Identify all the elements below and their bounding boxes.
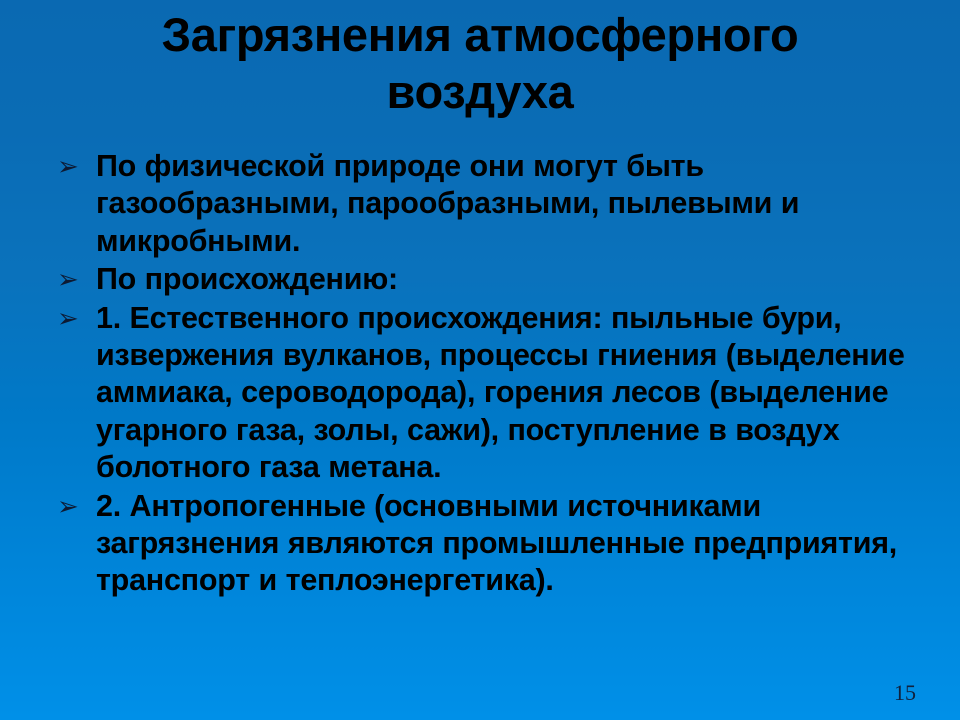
title-line-2: воздуха xyxy=(30,63,930,120)
arrow-bullet-icon: ➢ xyxy=(57,152,83,182)
arrow-bullet-icon: ➢ xyxy=(57,304,83,334)
title-line-1: Загрязнения атмосферного xyxy=(30,6,930,63)
presentation-slide: Загрязнения атмосферного воздуха ➢ По фи… xyxy=(0,0,960,720)
slide-number: 15 xyxy=(894,680,916,706)
slide-title: Загрязнения атмосферного воздуха xyxy=(30,6,930,120)
bullet-item-4: ➢ 2. Антропогенные (основными источникам… xyxy=(52,488,924,600)
arrow-bullet-icon: ➢ xyxy=(57,265,83,295)
bullet-item-3: ➢ 1. Естественного происхождения: пыльны… xyxy=(52,300,924,487)
bullet-item-4-text: 2. Антропогенные (основными источниками … xyxy=(96,488,924,600)
bullet-item-1: ➢ По физической природе они могут быть г… xyxy=(52,148,924,260)
arrow-bullet-icon: ➢ xyxy=(57,492,83,522)
slide-body-bullet-list: ➢ По физической природе они могут быть г… xyxy=(52,148,924,601)
bullet-item-1-text: По физической природе они могут быть газ… xyxy=(96,148,924,260)
bullet-item-3-text: 1. Естественного происхождения: пыльные … xyxy=(96,300,924,487)
bullet-item-2: ➢ По происхождению: xyxy=(52,261,924,298)
bullet-item-2-text: По происхождению: xyxy=(96,261,924,298)
